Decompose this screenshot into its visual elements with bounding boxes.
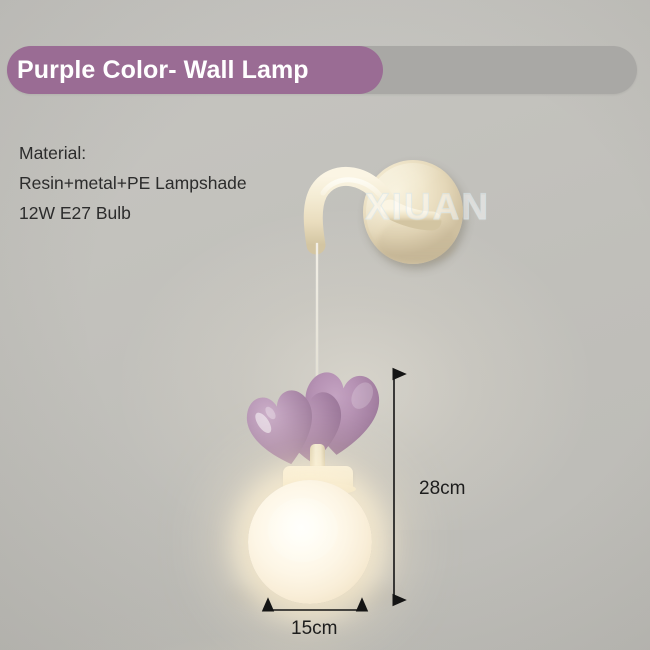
spec-line-bulb: 12W E27 Bulb xyxy=(19,198,319,228)
header-title-pill: Purple Color- Wall Lamp xyxy=(7,46,383,94)
wall-background xyxy=(0,0,650,650)
specification-block: Material: Resin+metal+PE Lampshade 12W E… xyxy=(19,138,319,228)
spec-line-material-label: Material: xyxy=(19,138,319,168)
spec-line-material-value: Resin+metal+PE Lampshade xyxy=(19,168,319,198)
page-title: Purple Color- Wall Lamp xyxy=(7,56,309,85)
dimension-label-width: 15cm xyxy=(291,618,337,640)
dimension-label-height: 28cm xyxy=(419,478,465,500)
product-image: Purple Color- Wall Lamp Material: Resin+… xyxy=(0,0,650,650)
